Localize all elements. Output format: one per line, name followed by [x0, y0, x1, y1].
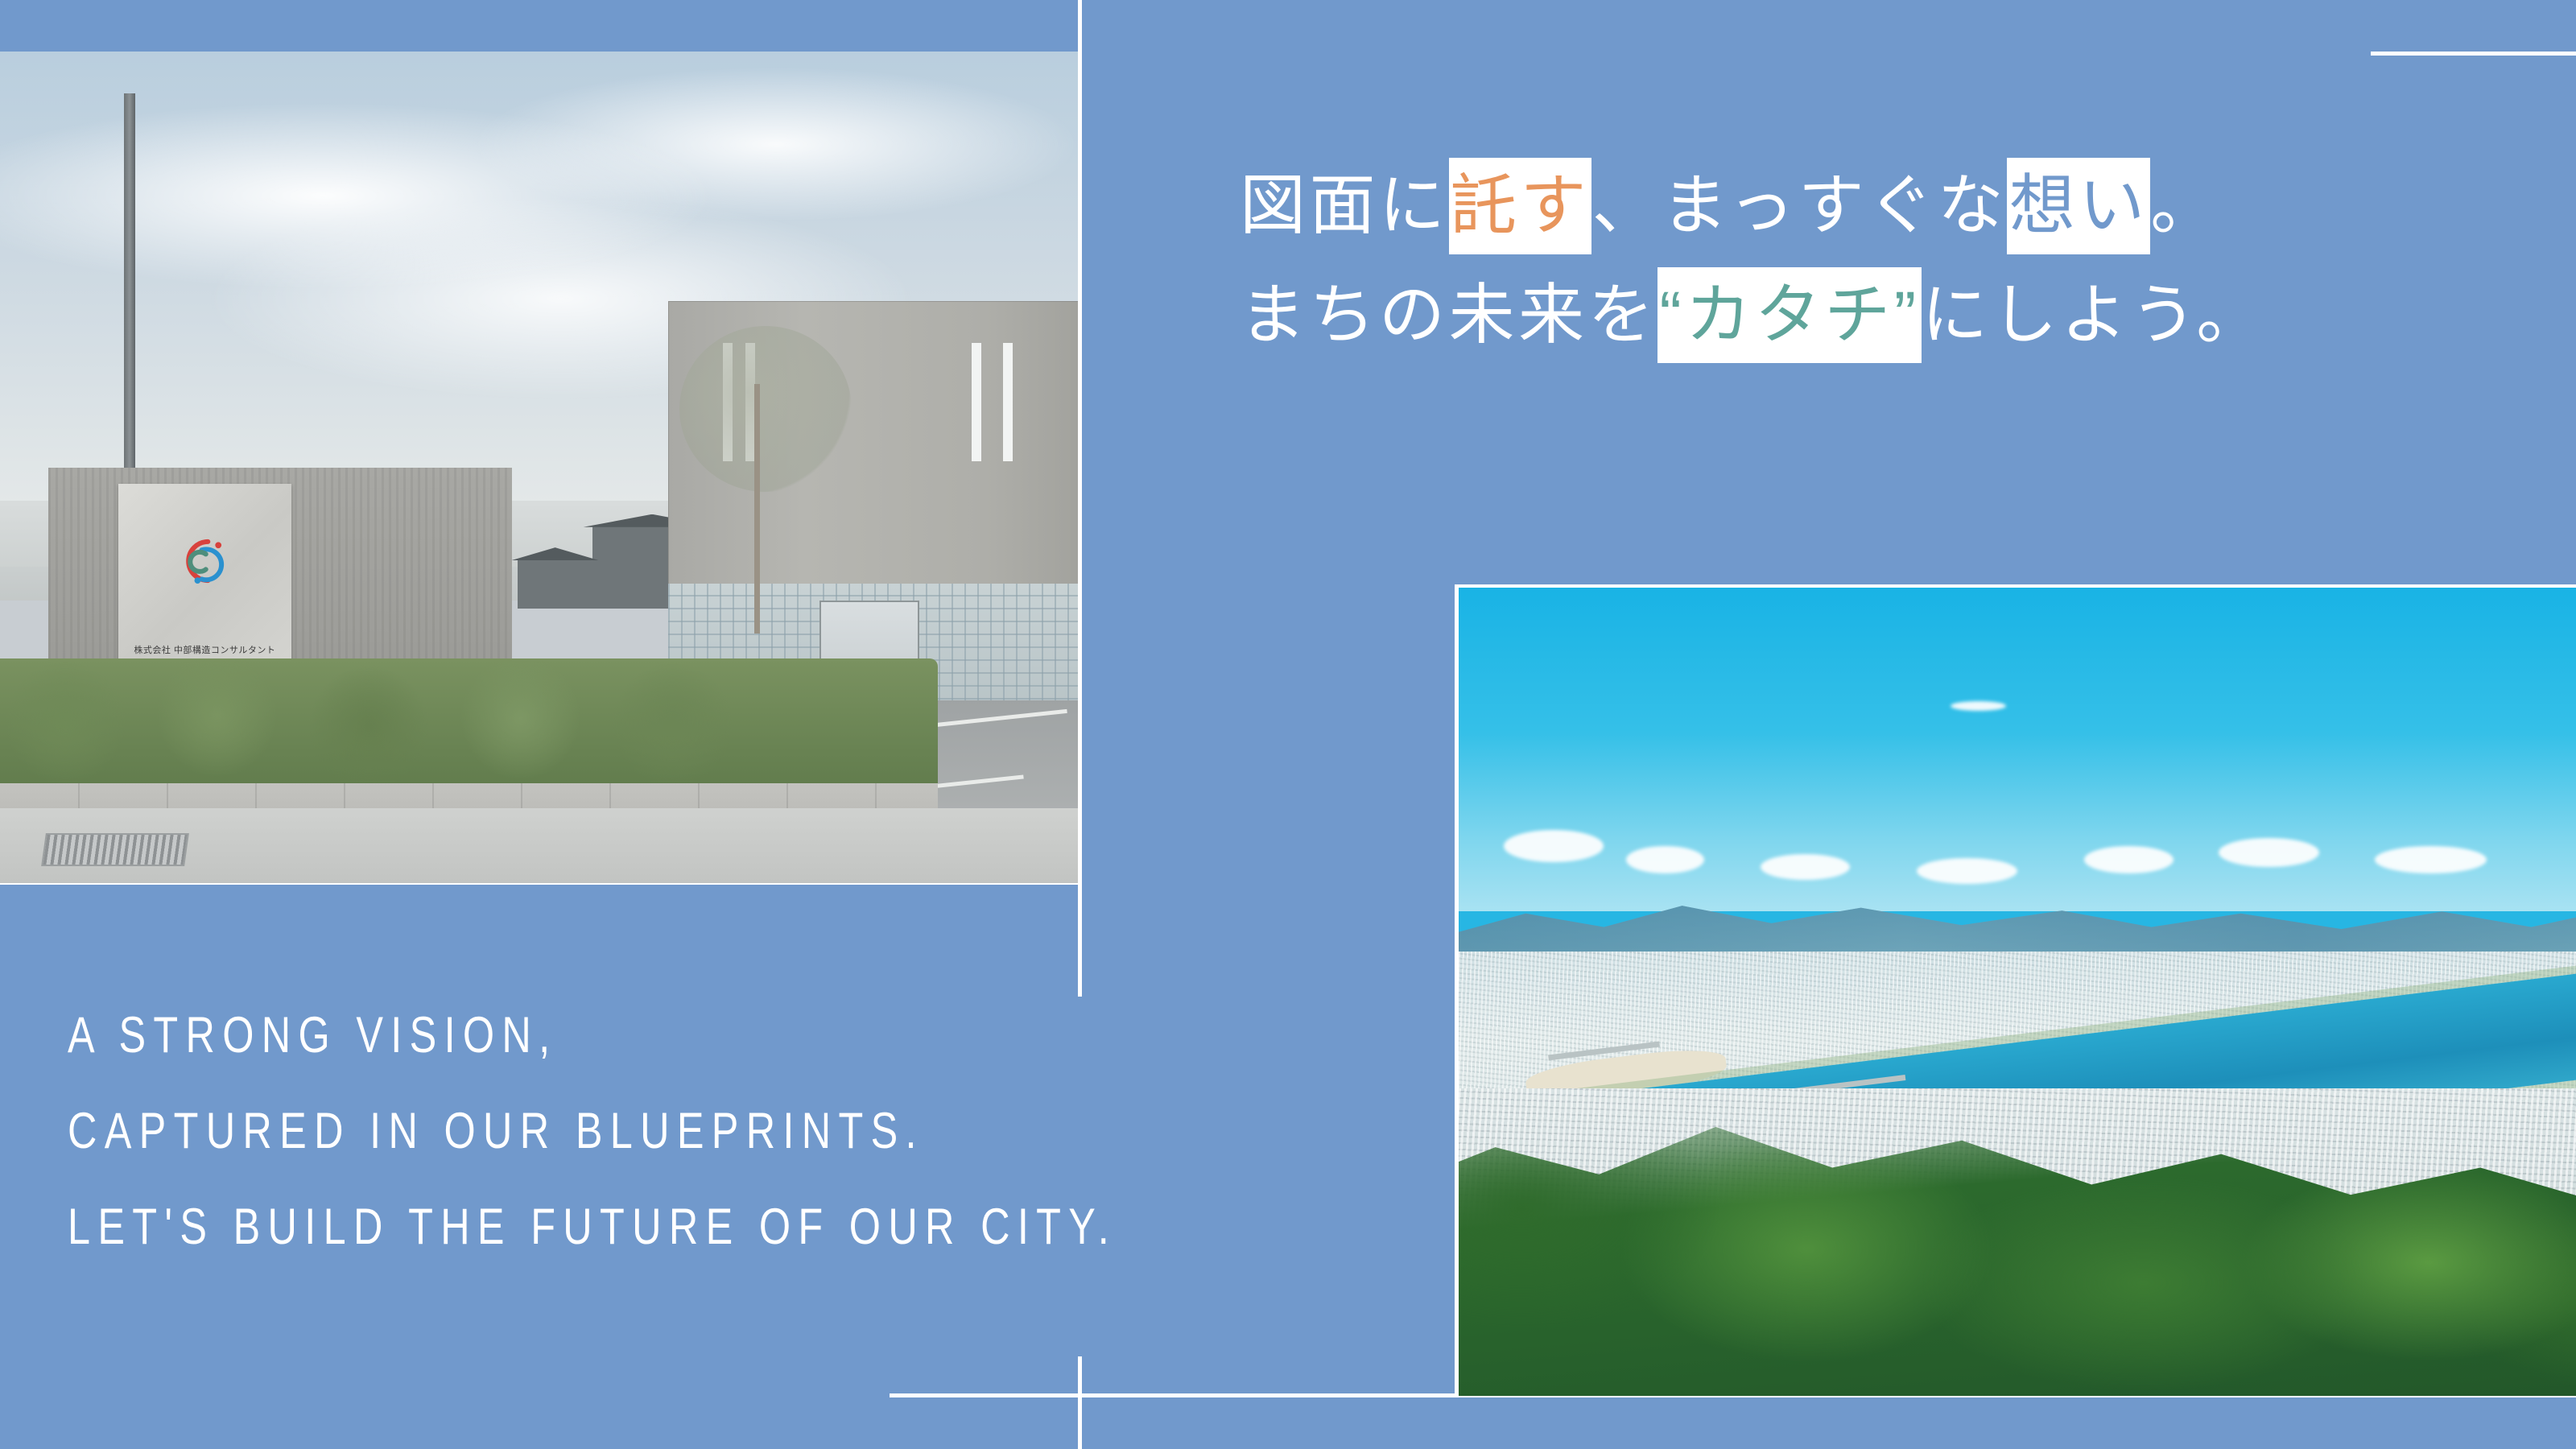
company-sign-plate: 株式会社 中部構造コンサルタント: [118, 484, 291, 667]
tree-trunk: [754, 384, 760, 634]
headline-line-1: 図面に託す、まっすぐな想い。: [1240, 158, 2495, 254]
headline-l1-part-3: 、まっすぐな: [1591, 169, 2007, 242]
photo-aerial-city: [1459, 588, 2576, 1396]
company-logo-icon: [170, 526, 239, 596]
cloud-wisp: [1951, 701, 2006, 711]
headline-japanese: 図面に託す、まっすぐな想い。 まちの未来を“カタチ”にしよう。: [1240, 158, 2495, 363]
rule-vertical-bottom: [1078, 1356, 1082, 1449]
hero-canvas: 株式会社 中部構造コンサルタント 図面に託す、まっすぐな想い。: [0, 0, 2576, 1449]
neighbor-house: [518, 559, 593, 609]
cloud: [2219, 838, 2319, 867]
photo-office-building: 株式会社 中部構造コンサルタント: [0, 52, 1078, 883]
headline-l1-part-5: 。: [2150, 169, 2220, 242]
tagline-line-1: A STRONG VISION,: [68, 1010, 840, 1061]
headline-l1-part-1: 図面に: [1240, 169, 1449, 242]
headline-line-2: まちの未来を“カタチ”にしよう。: [1240, 267, 2495, 364]
window-slit: [1003, 343, 1013, 462]
window-slit: [972, 343, 981, 462]
rule-vertical-mid: [1078, 884, 1082, 997]
tagline-line-2: CAPTURED IN OUR BLUEPRINTS.: [68, 1106, 840, 1157]
tagline-line-3: LET'S BUILD THE FUTURE OF OUR CITY.: [68, 1202, 840, 1253]
rule-top-right: [2371, 52, 2576, 56]
headline-l1-highlight-blue: 想い: [2007, 158, 2150, 254]
tree-canopy: [679, 326, 852, 493]
headline-l1-highlight-orange: 託す: [1449, 158, 1592, 254]
drain-grate: [41, 833, 189, 866]
company-sign-text: 株式会社 中部構造コンサルタント: [118, 643, 291, 656]
headline-l2-part-3: にしよう。: [1922, 279, 2266, 352]
chimney-pole: [124, 93, 135, 493]
headline-l2-part-1: まちの未来を: [1240, 279, 1657, 352]
tagline-english: A STRONG VISION, CAPTURED IN OUR BLUEPRI…: [68, 1010, 1034, 1253]
headline-l2-highlight-teal: “カタチ”: [1657, 267, 1922, 364]
rule-vertical-left-mid: [1078, 52, 1082, 884]
rule-vertical-top: [1078, 0, 1082, 52]
hedge-row: [0, 658, 938, 800]
